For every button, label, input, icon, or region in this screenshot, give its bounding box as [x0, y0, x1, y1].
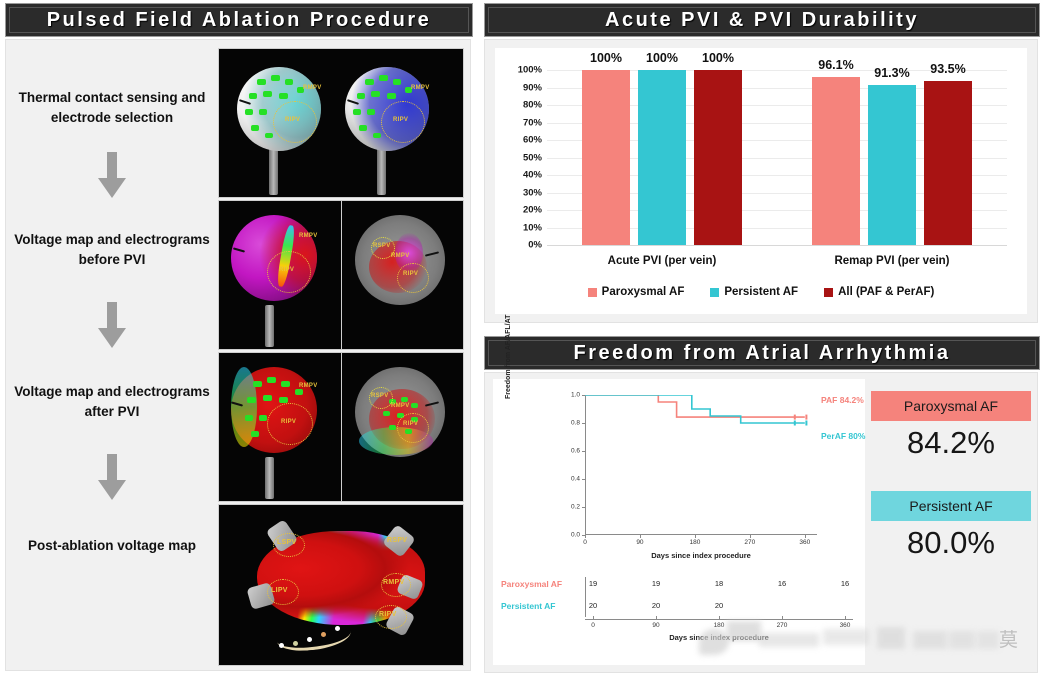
km-x-tick: 0: [583, 539, 587, 546]
bar-paroxysmal-af-0: [582, 70, 630, 245]
acute-pvi-body: 0%10%20%30%40%50%60%70%80%90%100%100%100…: [484, 39, 1038, 323]
km-curve-persistent-af: [585, 395, 805, 423]
km-x-tick: 180: [689, 539, 700, 546]
freedom-arrhythmia-title: Freedom from Atrial Arrhythmia: [574, 342, 951, 365]
km-censor-mark: [805, 421, 807, 426]
risk-time-tick: 90: [652, 622, 659, 629]
risk-time-tick: 270: [777, 622, 788, 629]
legend-swatch-icon: [588, 288, 597, 297]
procedure-step-1: Thermal contact sensing and electrode se…: [12, 88, 212, 127]
procedure-steps-column: Thermal contact sensing and electrode se…: [6, 40, 218, 670]
bar-chart-y-tick: 20%: [523, 205, 542, 216]
bar-chart-y-tick: 50%: [523, 152, 542, 163]
km-y-tick: 0.4: [571, 476, 580, 483]
bar-chart-plot: 0%10%20%30%40%50%60%70%80%90%100%100%100…: [547, 70, 1007, 245]
legend-label: Paroxysmal AF: [602, 286, 685, 298]
bar-all-paf-peraf--1: [924, 81, 972, 245]
km-x-tick-mark: [640, 535, 641, 538]
risk-row-label: Paroxysmal AF: [501, 579, 562, 589]
risk-count: 16: [778, 579, 786, 588]
bar-chart-y-tick: 40%: [523, 170, 542, 181]
bar-chart-y-tick: 70%: [523, 117, 542, 128]
bar-value-label: 100%: [702, 51, 734, 65]
bar-chart-y-tick: 80%: [523, 100, 542, 111]
risk-count: 16: [841, 579, 849, 588]
risk-time-tick-mark: [656, 616, 657, 619]
risk-count: 19: [652, 579, 660, 588]
flow-arrow-1-icon: [98, 152, 126, 198]
risk-time-tick-mark: [593, 616, 594, 619]
right-column: Acute PVI & PVI Durability 0%10%20%30%40…: [484, 3, 1038, 675]
bar-value-label: 93.5%: [930, 62, 965, 76]
bar-chart-category-label: Remap PVI (per vein): [834, 255, 949, 267]
km-x-tick-mark: [695, 535, 696, 538]
km-curves: [585, 395, 817, 535]
risk-row-label: Persistent AF: [501, 601, 555, 611]
legend-item: Paroxysmal AF: [588, 286, 685, 298]
km-x-axis-label: Days since index procedure: [585, 551, 817, 560]
legend-label: All (PAF & PerAF): [838, 286, 934, 298]
risk-count: 20: [715, 601, 723, 610]
risk-count: 19: [589, 579, 597, 588]
km-curve-paroxysmal-af: [585, 395, 805, 417]
procedure-step-3: Voltage map and electrograms after PVI: [12, 382, 212, 421]
procedure-image-voltage-before-pvi: RIPV RMPV RSPV RMPV RIPV: [218, 200, 464, 350]
left-panel: Pulsed Field Ablation Procedure Thermal …: [5, 3, 471, 675]
bar-persistent-af-1: [868, 85, 916, 245]
km-x-tick-mark: [750, 535, 751, 538]
procedure-image-voltage-after-pvi: RIPV RMPV RSPV RMPV: [218, 352, 464, 502]
km-annotation-persistent-af: PerAF 80%: [821, 431, 865, 441]
risk-time-tick: 180: [714, 622, 725, 629]
km-censor-mark: [794, 421, 796, 426]
freedom-arrhythmia-panel: Freedom from Atrial Arrhythmia Freedom f…: [484, 336, 1038, 675]
km-y-tick: 0.6: [571, 448, 580, 455]
bar-chart-y-tick: 30%: [523, 187, 542, 198]
bar-value-label: 100%: [646, 51, 678, 65]
km-y-tick: 0.8: [571, 420, 580, 427]
legend-item: All (PAF & PerAF): [824, 286, 934, 298]
bar-paroxysmal-af-1: [812, 77, 860, 245]
risk-count: 20: [589, 601, 597, 610]
stat-value-persistent: 80.0%: [871, 525, 1031, 561]
acute-pvi-panel: Acute PVI & PVI Durability 0%10%20%30%40…: [484, 3, 1038, 325]
procedure-image-contact-sensing: RIPV RMPV: [218, 48, 464, 198]
km-plot-area: 0.00.20.40.60.81.0090180270360PAF 84.2%P…: [585, 395, 817, 535]
bar-all-paf-peraf--0: [694, 70, 742, 245]
acute-pvi-title: Acute PVI & PVI Durability: [605, 9, 919, 32]
procedure-image-post-ablation-map: LSPV LIPV RSPV RMPV RIPV: [218, 504, 464, 666]
procedure-image-column: RIPV RMPV: [218, 48, 464, 666]
left-panel-header: Pulsed Field Ablation Procedure: [5, 3, 473, 37]
km-x-tick-mark: [585, 535, 586, 538]
left-panel-body: Thermal contact sensing and electrode se…: [5, 39, 471, 671]
bar-chart-y-tick: 100%: [518, 65, 542, 76]
acute-pvi-header: Acute PVI & PVI Durability: [484, 3, 1040, 37]
flow-arrow-3-icon: [98, 454, 126, 500]
infographic-page: Pulsed Field Ablation Procedure Thermal …: [0, 0, 1042, 678]
risk-count: 20: [652, 601, 660, 610]
bar-chart-category-label: Acute PVI (per vein): [608, 255, 717, 267]
risk-time-tick: 0: [591, 622, 595, 629]
risk-time-tick: 360: [840, 622, 851, 629]
km-risk-table: Days since index procedure Paroxysmal AF…: [501, 575, 861, 661]
stat-badge-persistent: Persistent AF: [871, 491, 1031, 521]
stat-value-paroxysmal: 84.2%: [871, 425, 1031, 461]
km-x-tick: 270: [744, 539, 755, 546]
bar-chart-card: 0%10%20%30%40%50%60%70%80%90%100%100%100…: [495, 48, 1027, 314]
legend-swatch-icon: [710, 288, 719, 297]
outcome-stats: Paroxysmal AF 84.2% Persistent AF 80.0%: [871, 379, 1031, 665]
stat-badge-paroxysmal: Paroxysmal AF: [871, 391, 1031, 421]
km-annotation-paroxysmal-af: PAF 84.2%: [821, 395, 864, 405]
risk-time-tick-mark: [782, 616, 783, 619]
bar-chart-y-tick: 10%: [523, 222, 542, 233]
km-x-tick: 360: [799, 539, 810, 546]
bar-chart-legend: Paroxysmal AFPersistent AFAll (PAF & Per…: [495, 286, 1027, 298]
left-panel-title: Pulsed Field Ablation Procedure: [47, 9, 432, 32]
freedom-arrhythmia-header: Freedom from Atrial Arrhythmia: [484, 336, 1040, 370]
bar-value-label: 91.3%: [874, 66, 909, 80]
bar-persistent-af-0: [638, 70, 686, 245]
km-x-tick-mark: [805, 535, 806, 538]
bar-chart-gridline: [547, 245, 1007, 246]
flow-arrow-2-icon: [98, 302, 126, 348]
km-y-tick: 1.0: [571, 392, 580, 399]
procedure-step-4: Post-ablation voltage map: [12, 536, 212, 556]
km-y-tick: 0.2: [571, 504, 580, 511]
legend-swatch-icon: [824, 288, 833, 297]
bar-chart-y-tick: 0%: [528, 240, 542, 251]
risk-table-x-label: Days since index procedure: [585, 633, 853, 642]
legend-item: Persistent AF: [710, 286, 798, 298]
km-chart-card: Freedom from AF/AFL/AT 0.00.20.40.60.81.…: [493, 379, 865, 665]
km-y-axis-label: Freedom from AF/AFL/AT: [505, 315, 512, 399]
risk-count: 18: [715, 579, 723, 588]
bar-chart-y-tick: 60%: [523, 135, 542, 146]
risk-time-tick-mark: [845, 616, 846, 619]
bar-value-label: 96.1%: [818, 58, 853, 72]
legend-label: Persistent AF: [724, 286, 798, 298]
risk-time-tick-mark: [719, 616, 720, 619]
procedure-step-2: Voltage map and electrograms before PVI: [12, 230, 212, 269]
km-censor-mark: [794, 415, 796, 420]
bar-chart-y-tick: 90%: [523, 82, 542, 93]
bar-value-label: 100%: [590, 51, 622, 65]
km-y-tick: 0.0: [571, 532, 580, 539]
km-x-tick: 90: [636, 539, 643, 546]
km-censor-mark: [805, 415, 807, 420]
freedom-arrhythmia-body: Freedom from AF/AFL/AT 0.00.20.40.60.81.…: [484, 372, 1038, 673]
